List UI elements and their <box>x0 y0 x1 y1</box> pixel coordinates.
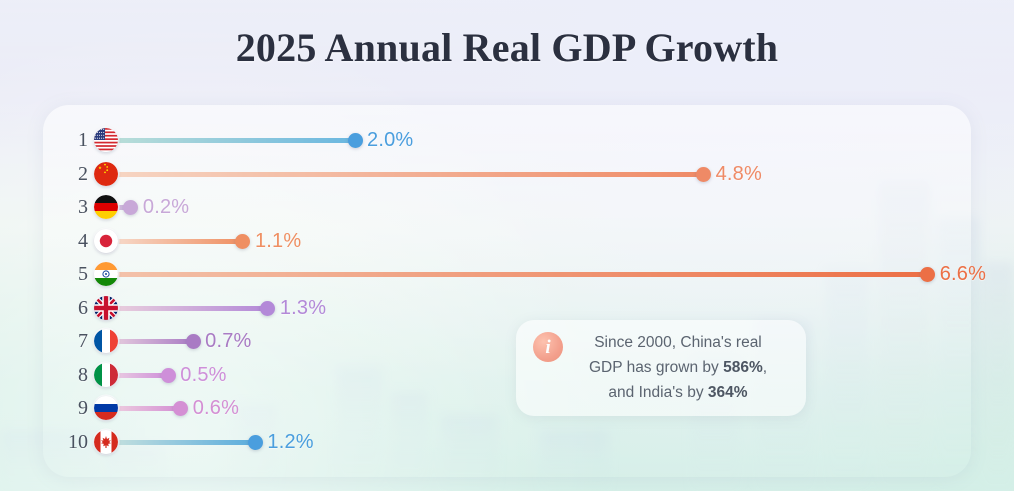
chart-row: 24.8% <box>0 157 1014 191</box>
row-endpoint-dot[interactable] <box>696 167 711 182</box>
annotation-text: Since 2000, China's real GDP has grown b… <box>562 330 794 405</box>
row-value-label: 6.6% <box>940 257 986 291</box>
chart-row: 90.6% <box>0 391 1014 425</box>
flag-jp <box>94 229 118 253</box>
row-track <box>106 138 355 143</box>
flag-gb <box>94 296 118 320</box>
row-endpoint-dot[interactable] <box>186 334 201 349</box>
annotation-line-3-prefix: and India's by <box>608 384 707 401</box>
row-endpoint-dot[interactable] <box>348 133 363 148</box>
gdp-growth-chart: 12.0%24.8%30.2%41.1%56.6%61.3%70.7%80.5%… <box>0 0 1014 491</box>
row-value-label: 1.3% <box>280 291 326 325</box>
chart-row: 12.0% <box>0 123 1014 157</box>
chart-row: 80.5% <box>0 358 1014 392</box>
annotation-line-2-prefix: GDP has grown by <box>589 359 723 376</box>
row-track <box>106 306 268 311</box>
chart-row: 70.7% <box>0 324 1014 358</box>
flag-ca <box>94 430 118 454</box>
flag-cn <box>94 162 118 186</box>
row-value-label: 1.1% <box>255 224 301 258</box>
row-rank: 8 <box>54 358 88 392</box>
flag-us <box>94 128 118 152</box>
row-rank: 6 <box>54 291 88 325</box>
row-value-label: 2.0% <box>367 123 413 157</box>
info-icon-glyph: i <box>533 332 563 362</box>
row-track <box>106 440 255 445</box>
flag-it <box>94 363 118 387</box>
annotation-callout: i Since 2000, China's real GDP has grown… <box>516 320 806 416</box>
row-endpoint-dot[interactable] <box>920 267 935 282</box>
chart-row: 41.1% <box>0 224 1014 258</box>
chart-row: 101.2% <box>0 425 1014 459</box>
row-endpoint-dot[interactable] <box>260 301 275 316</box>
annotation-line-2-suffix: , <box>763 359 767 376</box>
row-value-label: 0.2% <box>143 190 189 224</box>
annotation-china-growth: 586% <box>723 359 763 376</box>
row-track <box>106 339 193 344</box>
flag-in <box>94 262 118 286</box>
flag-de <box>94 195 118 219</box>
row-rank: 5 <box>54 257 88 291</box>
annotation-india-growth: 364% <box>708 384 748 401</box>
row-track <box>106 172 704 177</box>
row-endpoint-dot[interactable] <box>235 234 250 249</box>
chart-row: 30.2% <box>0 190 1014 224</box>
info-icon: i <box>533 332 563 362</box>
row-rank: 1 <box>54 123 88 157</box>
row-rank: 3 <box>54 190 88 224</box>
row-endpoint-dot[interactable] <box>161 368 176 383</box>
row-endpoint-dot[interactable] <box>123 200 138 215</box>
row-track <box>106 239 243 244</box>
chart-row: 61.3% <box>0 291 1014 325</box>
row-rank: 4 <box>54 224 88 258</box>
row-value-label: 1.2% <box>267 425 313 459</box>
row-value-label: 0.5% <box>180 358 226 392</box>
row-rank: 2 <box>54 157 88 191</box>
row-value-label: 0.6% <box>193 391 239 425</box>
row-rank: 7 <box>54 324 88 358</box>
flag-ru <box>94 396 118 420</box>
row-value-label: 0.7% <box>205 324 251 358</box>
row-endpoint-dot[interactable] <box>248 435 263 450</box>
row-rank: 9 <box>54 391 88 425</box>
row-rank: 10 <box>54 425 88 459</box>
chart-row: 56.6% <box>0 257 1014 291</box>
row-track <box>106 272 928 277</box>
row-value-label: 4.8% <box>716 157 762 191</box>
annotation-line-1: Since 2000, China's real <box>594 334 762 351</box>
row-endpoint-dot[interactable] <box>173 401 188 416</box>
flag-fr <box>94 329 118 353</box>
